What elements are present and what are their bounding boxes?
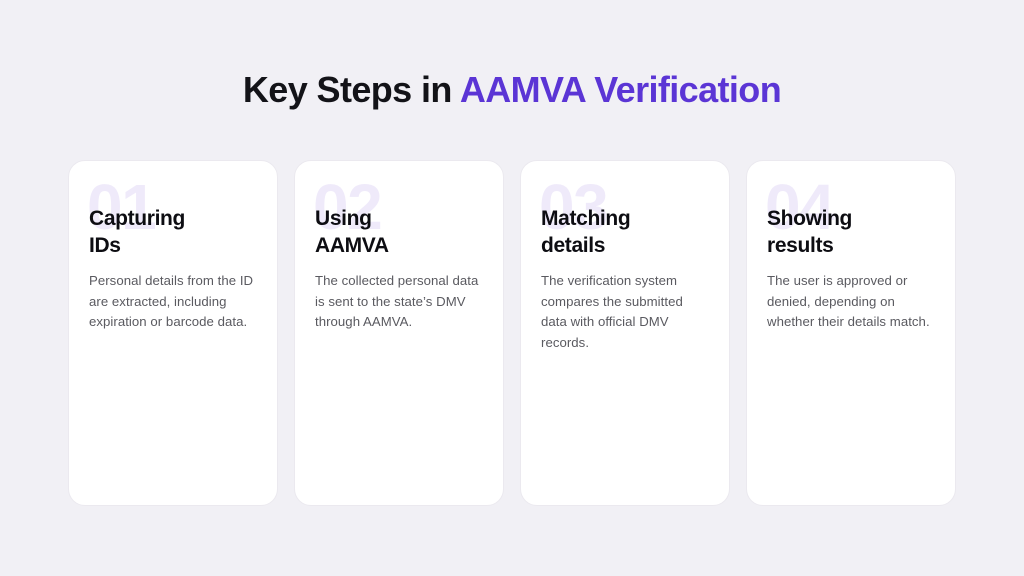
step-description: Personal details from the ID are extract… <box>89 271 257 333</box>
step-card-01[interactable]: 01 Capturing IDs Personal details from t… <box>68 160 278 506</box>
step-description: The verification system compares the sub… <box>541 271 709 353</box>
step-heading: Showing results <box>767 205 935 259</box>
page-title-accent: AAMVA Verification <box>460 69 781 110</box>
title-container: Key Steps in AAMVA Verification <box>0 68 1024 112</box>
step-card-02[interactable]: 02 Using AAMVA The collected personal da… <box>294 160 504 506</box>
step-heading: Using AAMVA <box>315 205 483 259</box>
step-card-04[interactable]: 04 Showing results The user is approved … <box>746 160 956 506</box>
steps-card-row: 01 Capturing IDs Personal details from t… <box>68 160 956 506</box>
step-heading: Matching details <box>541 205 709 259</box>
step-card-body: Using AAMVA The collected personal data … <box>295 161 503 333</box>
step-card-body: Matching details The verification system… <box>521 161 729 353</box>
step-heading: Capturing IDs <box>89 205 257 259</box>
step-card-03[interactable]: 03 Matching details The verification sys… <box>520 160 730 506</box>
page-title: Key Steps in AAMVA Verification <box>0 68 1024 112</box>
step-card-body: Showing results The user is approved or … <box>747 161 955 333</box>
step-description: The collected personal data is sent to t… <box>315 271 483 333</box>
step-description: The user is approved or denied, dependin… <box>767 271 935 333</box>
step-card-body: Capturing IDs Personal details from the … <box>69 161 277 333</box>
page-title-lead: Key Steps in <box>243 69 460 110</box>
slide-root: Key Steps in AAMVA Verification 01 Captu… <box>0 0 1024 576</box>
